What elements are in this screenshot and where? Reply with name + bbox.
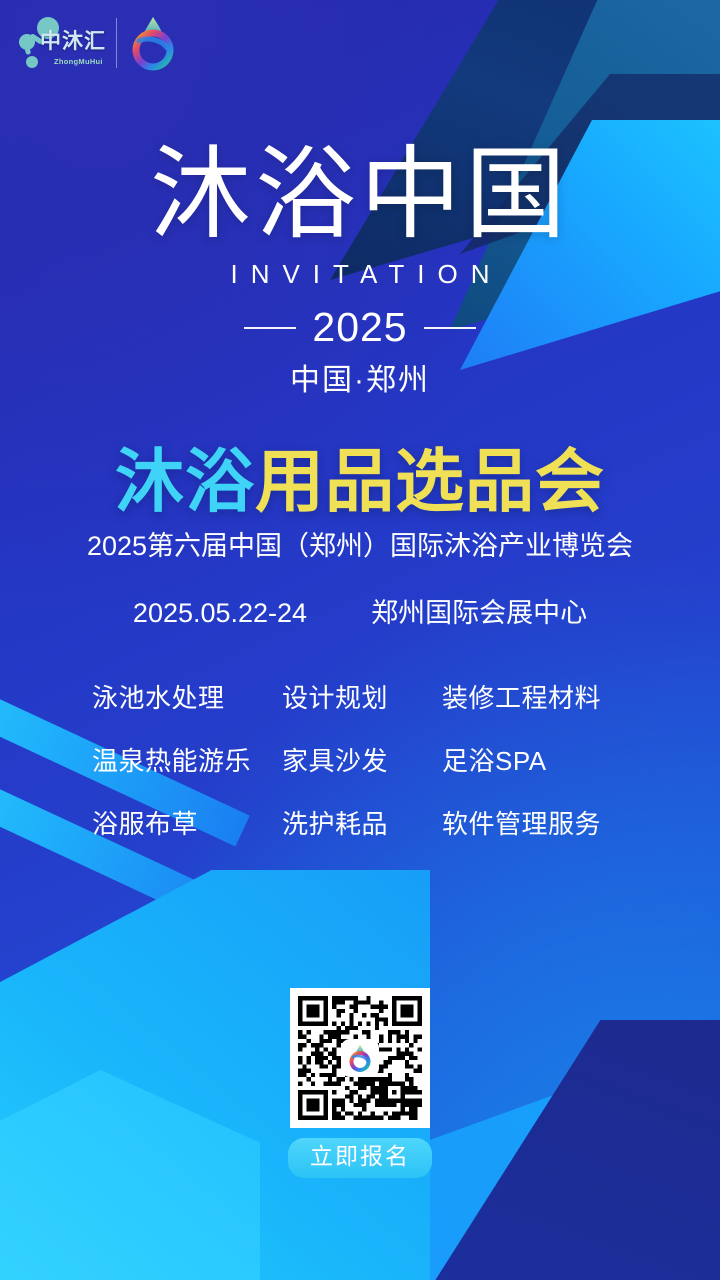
category-item: 足浴SPA bbox=[442, 741, 628, 778]
year-row: 2025 bbox=[0, 304, 720, 351]
headline-cyan-part: 沐浴 bbox=[115, 443, 255, 520]
city-label: 中国·郑州 bbox=[0, 355, 720, 399]
dash-left bbox=[244, 327, 296, 329]
year-label: 2025 bbox=[312, 304, 407, 351]
poster-canvas: 中沐汇 ZhongMuHui bbox=[0, 0, 720, 1280]
category-grid: 泳池水处理 设计规划 装修工程材料 温泉热能游乐 家具沙发 足浴SPA 浴服布草… bbox=[0, 678, 720, 841]
invitation-label: INVITATION bbox=[0, 259, 720, 290]
qr-center-logo bbox=[343, 1041, 377, 1075]
category-item: 泳池水处理 bbox=[92, 678, 282, 715]
category-item: 洗护耗品 bbox=[282, 804, 442, 841]
hero-section: 沐浴中国 INVITATION 2025 中国·郑州 沐浴用品选品会 2025第… bbox=[0, 0, 720, 630]
event-subtitle: 2025第六届中国（郑州）国际沐浴产业博览会 bbox=[0, 524, 720, 563]
event-date: 2025.05.22-24 bbox=[133, 598, 307, 629]
category-item: 设计规划 bbox=[282, 678, 442, 715]
headline-yellow-part: 用品选品会 bbox=[255, 443, 605, 520]
event-headline: 沐浴用品选品会 bbox=[0, 445, 720, 520]
category-item: 软件管理服务 bbox=[442, 804, 628, 841]
category-item: 温泉热能游乐 bbox=[92, 741, 282, 778]
signup-button[interactable]: 立即报名 bbox=[288, 1138, 432, 1178]
event-venue: 郑州国际会展中心 bbox=[371, 591, 587, 630]
decor-bottom-right-band-2 bbox=[101, 1251, 720, 1280]
category-item: 装修工程材料 bbox=[442, 678, 628, 715]
qr-code[interactable] bbox=[290, 988, 430, 1128]
date-venue-row: 2025.05.22-24 郑州国际会展中心 bbox=[0, 591, 720, 630]
page-title: 沐浴中国 bbox=[0, 142, 720, 249]
category-item: 家具沙发 bbox=[282, 741, 442, 778]
dash-right bbox=[424, 327, 476, 329]
category-item: 浴服布草 bbox=[92, 804, 282, 841]
droplet-ring-icon bbox=[347, 1044, 373, 1072]
brand-name-zh: 中沐汇 bbox=[40, 31, 106, 52]
signup-block: 立即报名 bbox=[0, 988, 720, 1178]
brand-name-pinyin: ZhongMuHui bbox=[54, 57, 103, 66]
